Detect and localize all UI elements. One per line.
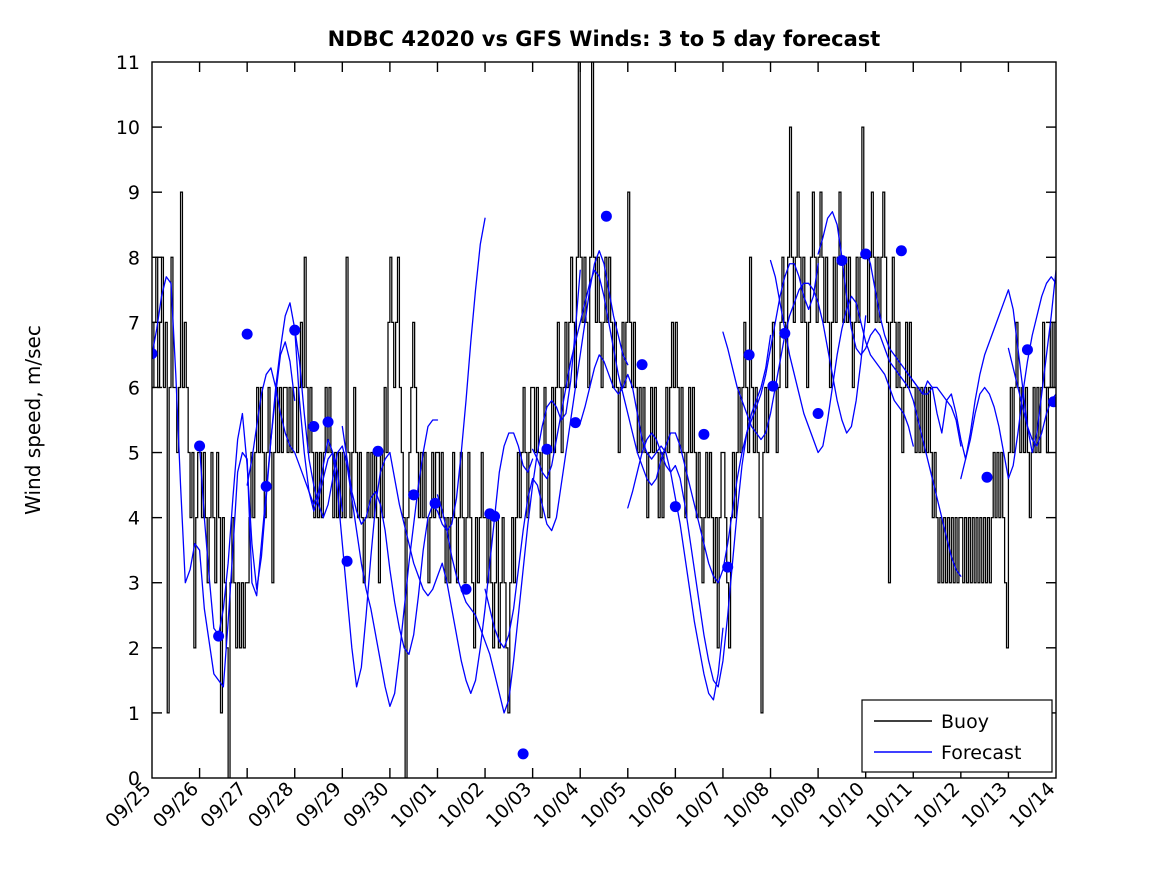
chart-legend[interactable]: Buoy Forecast — [862, 700, 1052, 772]
forecast-marker — [1022, 344, 1033, 355]
forecast-marker — [323, 416, 334, 427]
forecast-marker — [896, 245, 907, 256]
forecast-marker — [373, 446, 384, 457]
forecast-marker — [461, 584, 472, 595]
legend-label-buoy: Buoy — [941, 711, 989, 733]
forecast-marker — [242, 329, 253, 340]
forecast-marker — [541, 444, 552, 455]
forecast-marker — [408, 489, 419, 500]
y-axis-label: Wind speed, m/sec — [21, 325, 45, 515]
y-tick-label: 7 — [128, 312, 140, 334]
forecast-marker — [601, 211, 612, 222]
forecast-marker — [489, 511, 500, 522]
wind-speed-chart: NDBC 42020 vs GFS Winds: 3 to 5 day fore… — [0, 0, 1167, 875]
forecast-marker — [860, 249, 871, 260]
forecast-marker — [744, 349, 755, 360]
forecast-marker — [767, 381, 778, 392]
forecast-marker — [836, 255, 847, 266]
y-tick-label: 2 — [128, 638, 140, 660]
forecast-marker — [982, 472, 993, 483]
forecast-marker — [342, 556, 353, 567]
forecast-marker — [670, 501, 681, 512]
forecast-marker — [779, 328, 790, 339]
chart-title: NDBC 42020 vs GFS Winds: 3 to 5 day fore… — [328, 27, 881, 51]
forecast-marker — [570, 417, 581, 428]
y-tick-label: 5 — [128, 443, 140, 465]
y-tick-label: 3 — [128, 573, 140, 595]
forecast-marker — [213, 631, 224, 642]
forecast-marker — [722, 562, 733, 573]
y-tick-label: 9 — [128, 182, 140, 204]
forecast-marker — [261, 481, 272, 492]
y-tick-label: 11 — [116, 52, 140, 74]
y-tick-label: 8 — [128, 247, 140, 269]
forecast-marker — [430, 498, 441, 509]
forecast-marker — [518, 748, 529, 759]
y-tick-label: 4 — [128, 508, 140, 530]
forecast-marker — [698, 429, 709, 440]
forecast-marker — [194, 441, 205, 452]
forecast-marker — [637, 359, 648, 370]
y-tick-label: 1 — [128, 703, 140, 725]
forecast-marker — [308, 421, 319, 432]
legend-label-forecast: Forecast — [941, 742, 1021, 764]
forecast-marker — [813, 408, 824, 419]
y-tick-label: 10 — [116, 117, 140, 139]
y-tick-label: 6 — [128, 377, 140, 399]
forecast-marker — [289, 325, 300, 336]
chart-figure: NDBC 42020 vs GFS Winds: 3 to 5 day fore… — [0, 0, 1167, 875]
